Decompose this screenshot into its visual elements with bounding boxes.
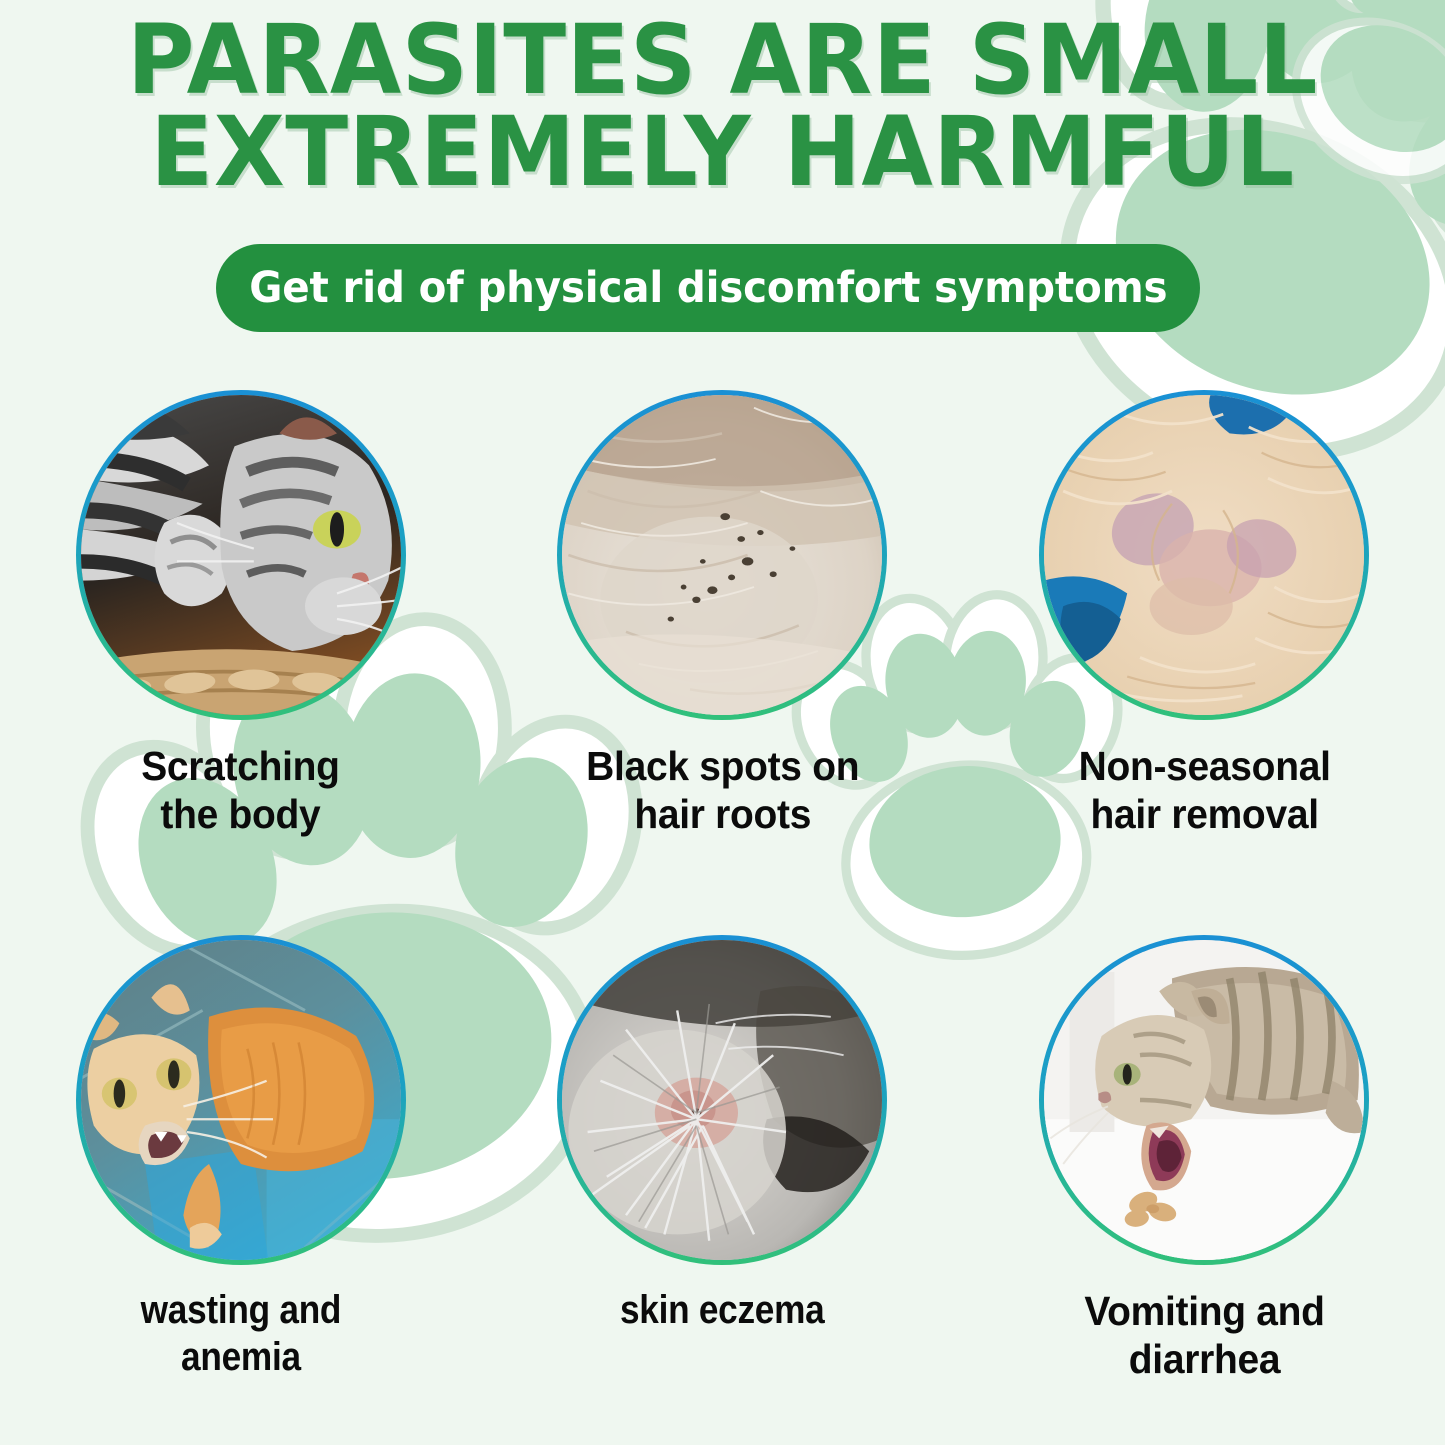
photo-skin-eczema (562, 940, 882, 1260)
caption-line-2: the body (142, 790, 340, 838)
symptom-caption: skin eczema (620, 1287, 825, 1334)
caption-line-1: Black spots on (586, 742, 859, 790)
caption-line-1: skin eczema (620, 1287, 825, 1334)
photo-ring (1039, 390, 1369, 720)
photo-ring (76, 935, 406, 1265)
poster-canvas: PARASITES ARE SMALL EXTREMELY HARMFUL Ge… (0, 0, 1445, 1445)
photo-ring (557, 935, 887, 1265)
photo-black-spots-hair-roots (562, 395, 882, 715)
symptom-caption: Non-seasonal hair removal (1078, 742, 1330, 839)
photo-ring (557, 390, 887, 720)
symptom-card-scratching-the-body: Scratching the body (0, 390, 482, 925)
caption-line-1: Vomiting and (1084, 1287, 1324, 1335)
symptom-grid: Scratching the body (0, 390, 1445, 1445)
caption-line-2: hair removal (1078, 790, 1330, 838)
symptom-caption: Black spots on hair roots (586, 742, 859, 839)
subtitle-banner-text: Get rid of physical discomfort symptoms (249, 267, 1167, 310)
symptom-card-non-seasonal-hair-removal: Non-seasonal hair removal (963, 390, 1445, 925)
photo-ring (76, 390, 406, 720)
symptom-card-skin-eczema: skin eczema (482, 935, 964, 1445)
symptom-caption: wasting and anemia (141, 1287, 342, 1381)
symptom-card-vomiting-and-diarrhea: Vomiting and diarrhea (963, 935, 1445, 1445)
caption-line-2: anemia (141, 1334, 342, 1381)
photo-vomiting (1044, 940, 1364, 1260)
symptom-caption: Vomiting and diarrhea (1084, 1287, 1324, 1384)
caption-line-1: Non-seasonal (1078, 742, 1330, 790)
photo-wasting-anemia (81, 940, 401, 1260)
photo-cat-scratching (81, 395, 401, 715)
symptom-caption: Scratching the body (142, 742, 340, 839)
caption-line-1: wasting and (141, 1287, 342, 1334)
caption-line-2: diarrhea (1084, 1335, 1324, 1383)
heading-line-2: EXTREMELY HARMFUL (29, 106, 1416, 198)
photo-hair-loss (1044, 395, 1364, 715)
symptom-card-wasting-and-anemia: wasting and anemia (0, 935, 482, 1445)
caption-line-2: hair roots (586, 790, 859, 838)
heading-line-1: PARASITES ARE SMALL (29, 14, 1416, 106)
symptom-card-black-spots-on-hair-roots: Black spots on hair roots (482, 390, 964, 925)
poster-heading: PARASITES ARE SMALL EXTREMELY HARMFUL (0, 14, 1445, 198)
subtitle-banner: Get rid of physical discomfort symptoms (216, 244, 1200, 332)
caption-line-1: Scratching (142, 742, 340, 790)
photo-ring (1039, 935, 1369, 1265)
